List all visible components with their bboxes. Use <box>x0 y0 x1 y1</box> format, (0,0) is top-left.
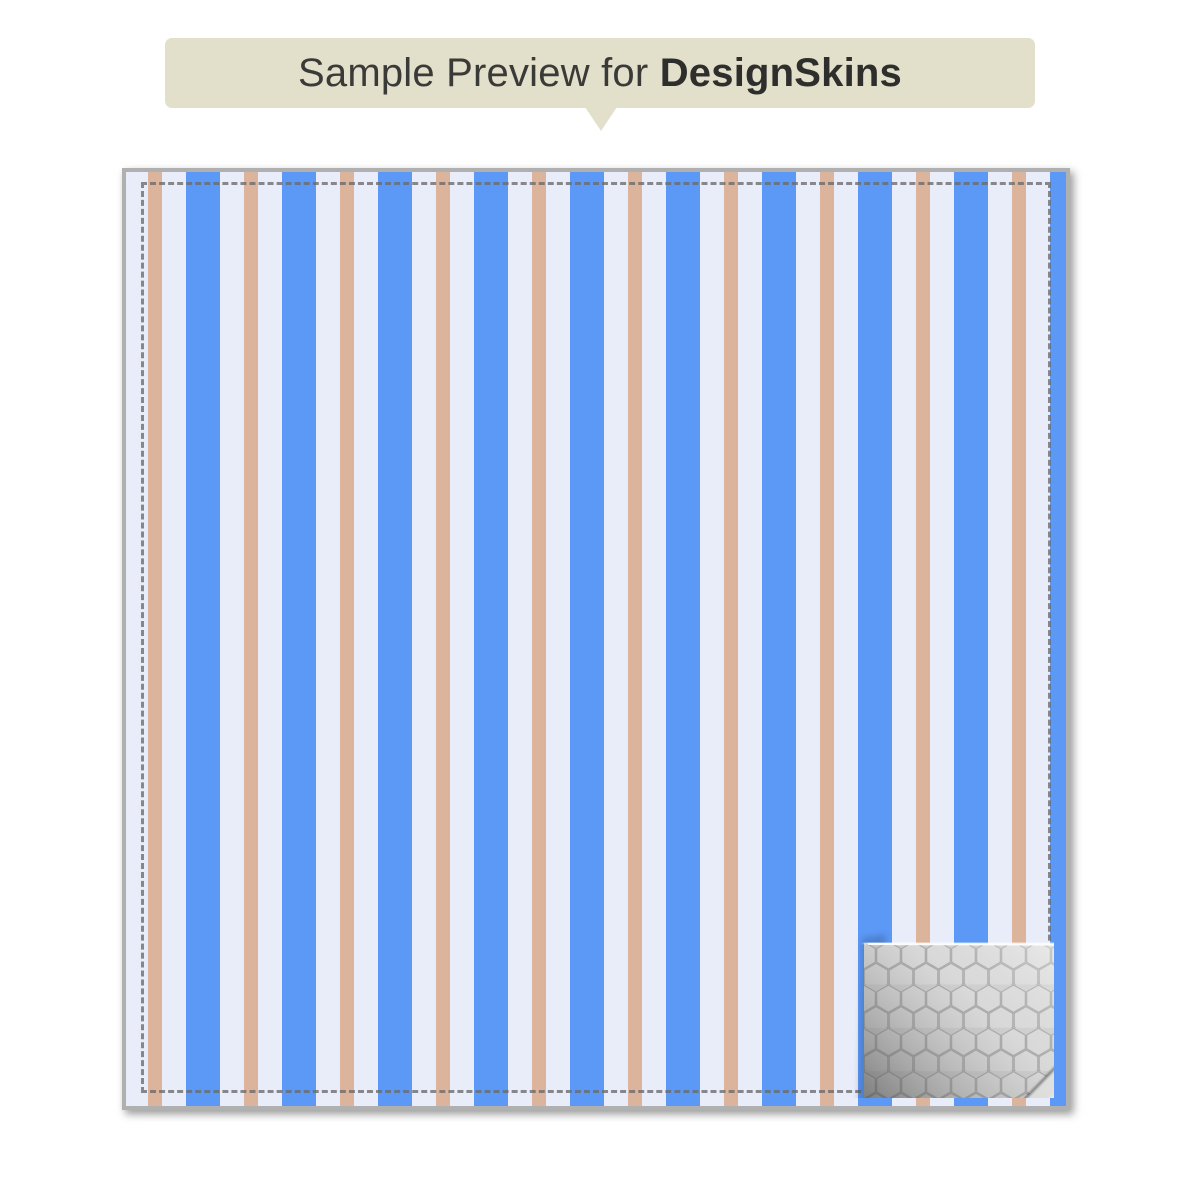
tooltip-body: Sample Preview for DesignSkins <box>165 38 1035 108</box>
tooltip-text-normal: Sample Preview for <box>298 51 660 95</box>
tooltip-tail-icon <box>585 107 617 131</box>
design-skin-preview[interactable] <box>122 168 1070 1110</box>
sample-preview-tooltip: Sample Preview for DesignSkins <box>165 38 1035 108</box>
vertical-stripes-pattern <box>126 172 1066 1106</box>
tooltip-text: Sample Preview for DesignSkins <box>298 51 902 96</box>
tooltip-text-brand: DesignSkins <box>660 51 902 95</box>
